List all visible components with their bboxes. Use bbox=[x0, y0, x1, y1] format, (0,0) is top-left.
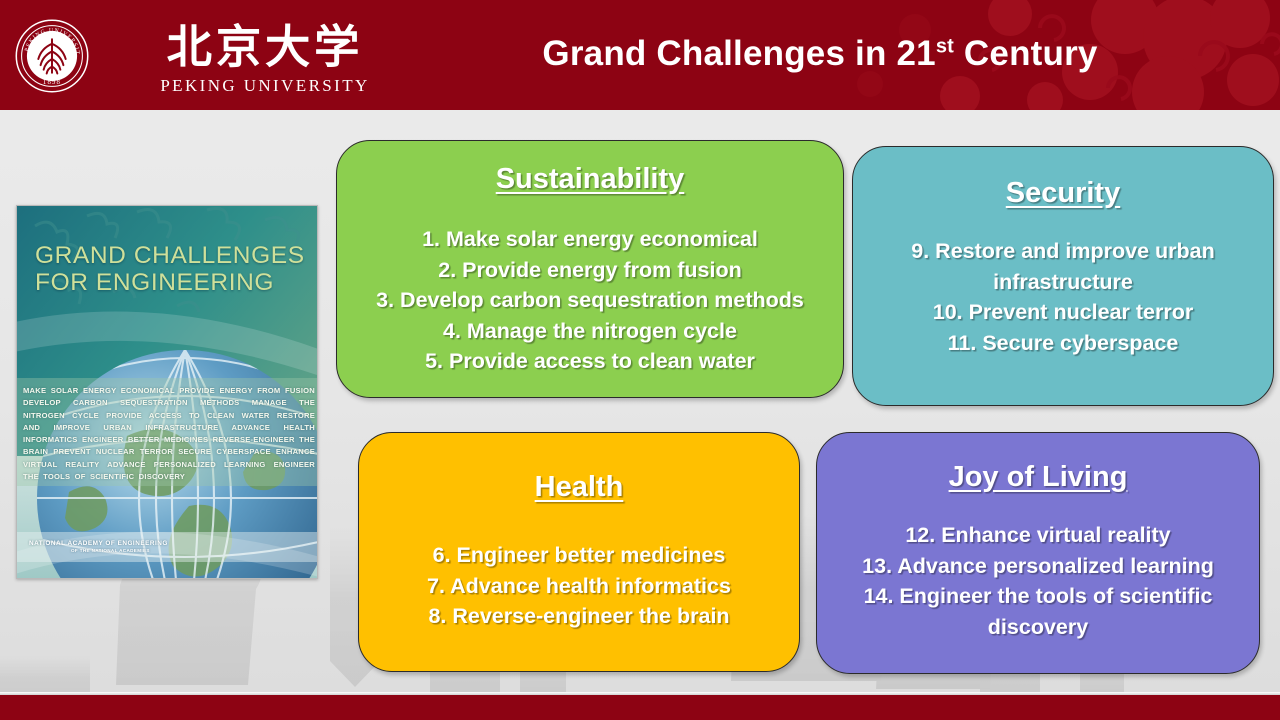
challenge-item-10: 10. Prevent nuclear terror bbox=[853, 297, 1273, 328]
challenge-item-4: 4. Manage the nitrogen cycle bbox=[337, 316, 843, 347]
category-items-security: 9. Restore and improve urban infrastruct… bbox=[853, 236, 1273, 358]
book-cover-publisher: NATIONAL ACADEMY OF ENGINEERING OF THE N… bbox=[29, 540, 309, 553]
challenge-item-12: 12. Enhance virtual reality bbox=[817, 520, 1259, 551]
category-title-sustainability: Sustainability bbox=[337, 163, 843, 196]
university-chinese-wordmark: 北京大学 bbox=[130, 19, 400, 73]
page-title-superscript: st bbox=[936, 35, 954, 57]
category-items-health: 6. Engineer better medicines 7. Advance … bbox=[359, 540, 799, 632]
challenge-item-2: 2. Provide energy from fusion bbox=[337, 255, 843, 286]
footer-divider bbox=[0, 692, 1280, 695]
university-english-wordmark: PEKING UNIVERSITY bbox=[134, 76, 396, 96]
challenge-item-14: 14. Engineer the tools of scientific dis… bbox=[817, 581, 1259, 642]
publisher-name: NATIONAL ACADEMY OF ENGINEERING bbox=[29, 540, 168, 547]
book-cover-title: GRAND CHALLENGES FOR ENGINEERING bbox=[35, 242, 305, 297]
category-box-security[interactable]: Security 9. Restore and improve urban in… bbox=[852, 146, 1274, 406]
challenge-item-1: 1. Make solar energy economical bbox=[337, 224, 843, 255]
category-box-health[interactable]: Health 6. Engineer better medicines 7. A… bbox=[358, 432, 800, 672]
slide-canvas: 1898 PEKING UNIVERSITY 北京大学 PEKING UNIVE… bbox=[0, 0, 1280, 720]
svg-text:1898: 1898 bbox=[43, 79, 61, 86]
category-title-joy-of-living: Joy of Living bbox=[817, 461, 1259, 494]
category-title-security: Security bbox=[853, 177, 1273, 210]
category-items-sustainability: 1. Make solar energy economical 2. Provi… bbox=[337, 224, 843, 377]
book-title-line-2: FOR ENGINEERING bbox=[35, 269, 305, 296]
book-cover-keywords: MAKE SOLAR ENERGY ECONOMICAL PROVIDE ENE… bbox=[23, 385, 315, 483]
challenge-item-5: 5. Provide access to clean water bbox=[337, 346, 843, 377]
svg-text:北京大学: 北京大学 bbox=[167, 20, 364, 73]
category-box-sustainability[interactable]: Sustainability 1. Make solar energy econ… bbox=[336, 140, 844, 398]
category-box-joy-of-living[interactable]: Joy of Living 12. Enhance virtual realit… bbox=[816, 432, 1260, 674]
challenge-item-7: 7. Advance health informatics bbox=[359, 571, 799, 602]
page-title: Grand Challenges in 21st Century bbox=[420, 34, 1220, 74]
challenge-item-9: 9. Restore and improve urban infrastruct… bbox=[853, 236, 1273, 297]
book-cover-image: GRAND CHALLENGES FOR ENGINEERING MAKE SO… bbox=[16, 205, 318, 579]
challenge-item-3: 3. Develop carbon sequestration methods bbox=[337, 285, 843, 316]
challenge-item-13: 13. Advance personalized learning bbox=[817, 551, 1259, 582]
category-items-joy-of-living: 12. Enhance virtual reality 13. Advance … bbox=[817, 520, 1259, 642]
publisher-subtitle: OF THE NATIONAL ACADEMIES bbox=[71, 548, 309, 553]
challenge-item-6: 6. Engineer better medicines bbox=[359, 540, 799, 571]
challenge-item-11: 11. Secure cyberspace bbox=[853, 328, 1273, 359]
footer-bar bbox=[0, 695, 1280, 720]
page-title-main: Grand Challenges in 21 bbox=[542, 34, 935, 73]
page-title-tail: Century bbox=[954, 34, 1098, 73]
peking-university-seal-icon: 1898 PEKING UNIVERSITY bbox=[14, 18, 90, 94]
category-title-health: Health bbox=[359, 471, 799, 504]
challenge-item-8: 8. Reverse-engineer the brain bbox=[359, 601, 799, 632]
book-title-line-1: GRAND CHALLENGES bbox=[35, 242, 305, 269]
header-banner: 1898 PEKING UNIVERSITY 北京大学 PEKING UNIVE… bbox=[0, 0, 1280, 110]
